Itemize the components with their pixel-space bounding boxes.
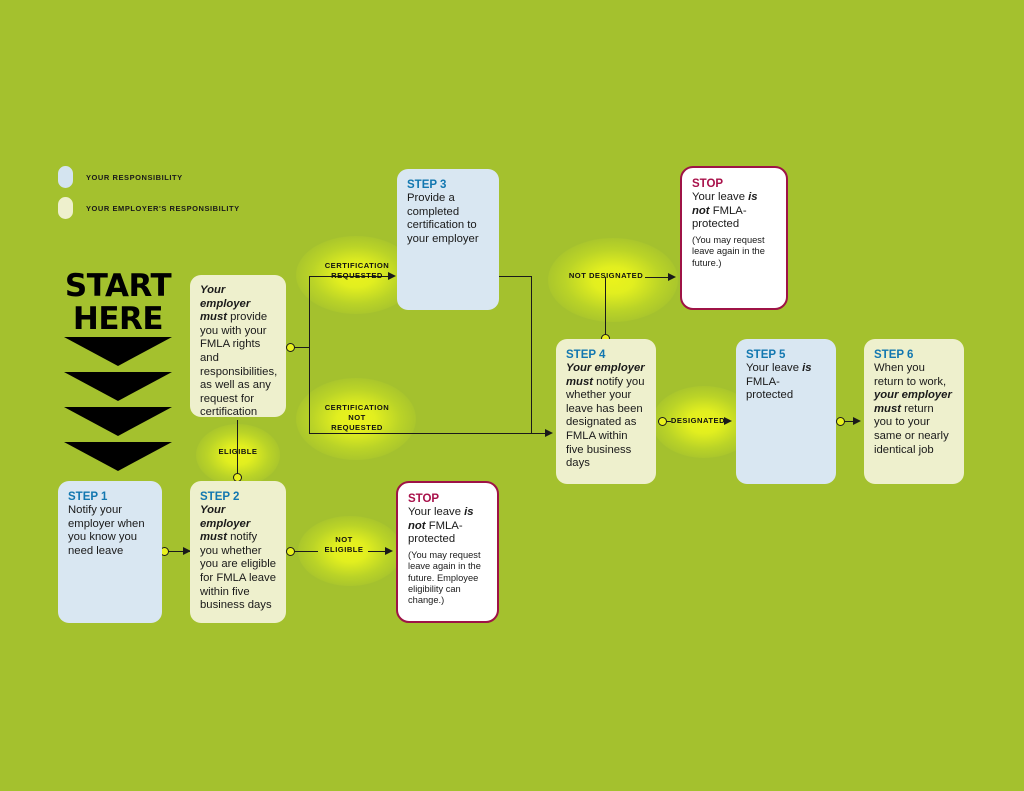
node-step-5[interactable]: STEP 5 Your leave is FMLA-protected	[736, 339, 836, 484]
arrow-icon	[545, 429, 553, 437]
step-label: STEP 3	[407, 178, 489, 192]
start-line-1: START	[58, 270, 178, 303]
flowchart-canvas: YOUR RESPONSIBILITY YOUR EMPLOYER'S RESP…	[0, 0, 1024, 791]
step-label: STEP 5	[746, 348, 826, 362]
step-body: When you return to work, your employer m…	[874, 362, 954, 457]
label-line-1: CERTIFICATION	[325, 261, 390, 270]
stop-label: STOP	[408, 492, 487, 506]
stop-label: STOP	[692, 177, 776, 191]
connector-label-certification-requested: CERTIFICATION REQUESTED	[303, 261, 411, 281]
connector-line	[294, 551, 318, 552]
connector-line	[309, 433, 548, 434]
stop-note: (You may request leave again in the futu…	[692, 235, 776, 269]
connector-label-not-eligible: NOT ELIGIBLE	[318, 535, 370, 555]
stop-body: Your leave is not FMLA-protected	[408, 506, 487, 547]
node-stop-not-designated[interactable]: STOP Your leave is not FMLA-protected (Y…	[680, 166, 788, 310]
stop-body: Your leave is not FMLA-protected	[692, 191, 776, 232]
step-body: Your leave is FMLA-protected	[746, 362, 826, 403]
connector-label-certification-not-requested: CERTIFICATION NOT REQUESTED	[303, 403, 411, 433]
step-body-pre: Your leave	[746, 362, 802, 374]
arrow-icon	[385, 547, 393, 555]
legend-label: YOUR RESPONSIBILITY	[86, 173, 183, 182]
legend-item-employer-responsibility: YOUR EMPLOYER'S RESPONSIBILITY	[58, 197, 240, 219]
chevron-down-icon	[64, 442, 172, 471]
connector-label-not-designated: NOT DESIGNATED	[556, 271, 656, 281]
step-body: Notify your employer when you know you n…	[68, 504, 152, 558]
step-body: Your employer must notify you whether yo…	[200, 504, 276, 613]
step-label: STEP 6	[874, 348, 954, 362]
connector-line	[605, 277, 606, 335]
step-body: Your employer must notify you whether yo…	[566, 362, 646, 471]
label-line-3: REQUESTED	[331, 423, 383, 432]
step-body-rest: notify you whether your leave has been d…	[566, 376, 645, 470]
node-step-3[interactable]: STEP 3 Provide a completed certification…	[397, 169, 499, 310]
label-line-2: NOT	[348, 413, 366, 422]
chevron-down-icon	[64, 337, 172, 366]
stop-body-pre: Your leave	[692, 191, 748, 203]
connector-label-eligible: ELIGIBLE	[203, 447, 273, 457]
node-step-1[interactable]: STEP 1 Notify your employer when you kno…	[58, 481, 162, 623]
legend-label: YOUR EMPLOYER'S RESPONSIBILITY	[86, 204, 240, 213]
label-line-1: NOT	[335, 535, 353, 544]
node-step-2[interactable]: STEP 2 Your employer must notify you whe…	[190, 481, 286, 623]
step-label: STEP 2	[200, 490, 276, 504]
node-employer-rights[interactable]: Your employer must provide you with your…	[190, 275, 286, 417]
connector-line	[531, 276, 532, 434]
step-body-post: FMLA-protected	[746, 376, 793, 402]
connector-label-designated: DESIGNATED	[670, 416, 726, 426]
node-step-6[interactable]: STEP 6 When you return to work, your emp…	[864, 339, 964, 484]
pill-dot-icon	[58, 166, 73, 188]
connector-line	[499, 276, 532, 277]
label-line-2: REQUESTED	[331, 271, 383, 280]
pill-dot-icon	[58, 197, 73, 219]
start-here-marker: START HERE	[58, 270, 178, 471]
step-label: STEP 1	[68, 490, 152, 504]
step-body-emphasis: is	[802, 362, 811, 374]
arrow-icon	[853, 417, 861, 425]
node-body: Your employer must provide you with your…	[200, 284, 276, 417]
label-line-1: CERTIFICATION	[325, 403, 390, 412]
node-stop-not-eligible[interactable]: STOP Your leave is not FMLA-protected (Y…	[396, 481, 499, 623]
chevron-down-icon	[64, 372, 172, 401]
label-line-2: ELIGIBLE	[324, 545, 363, 554]
connector-line	[294, 347, 310, 348]
chevron-down-icon	[64, 407, 172, 436]
legend-item-your-responsibility: YOUR RESPONSIBILITY	[58, 166, 183, 188]
start-line-2: HERE	[58, 303, 178, 336]
step-label: STEP 4	[566, 348, 646, 362]
step-body: Provide a completed certification to you…	[407, 192, 489, 246]
step-body-pre: When you return to work,	[874, 362, 946, 388]
stop-note: (You may request leave again in the futu…	[408, 550, 487, 607]
stop-body-pre: Your leave	[408, 506, 464, 518]
node-step-4[interactable]: STEP 4 Your employer must notify you whe…	[556, 339, 656, 484]
arrow-icon	[668, 273, 676, 281]
node-body-rest: provide you with your FMLA rights and re…	[200, 311, 277, 417]
